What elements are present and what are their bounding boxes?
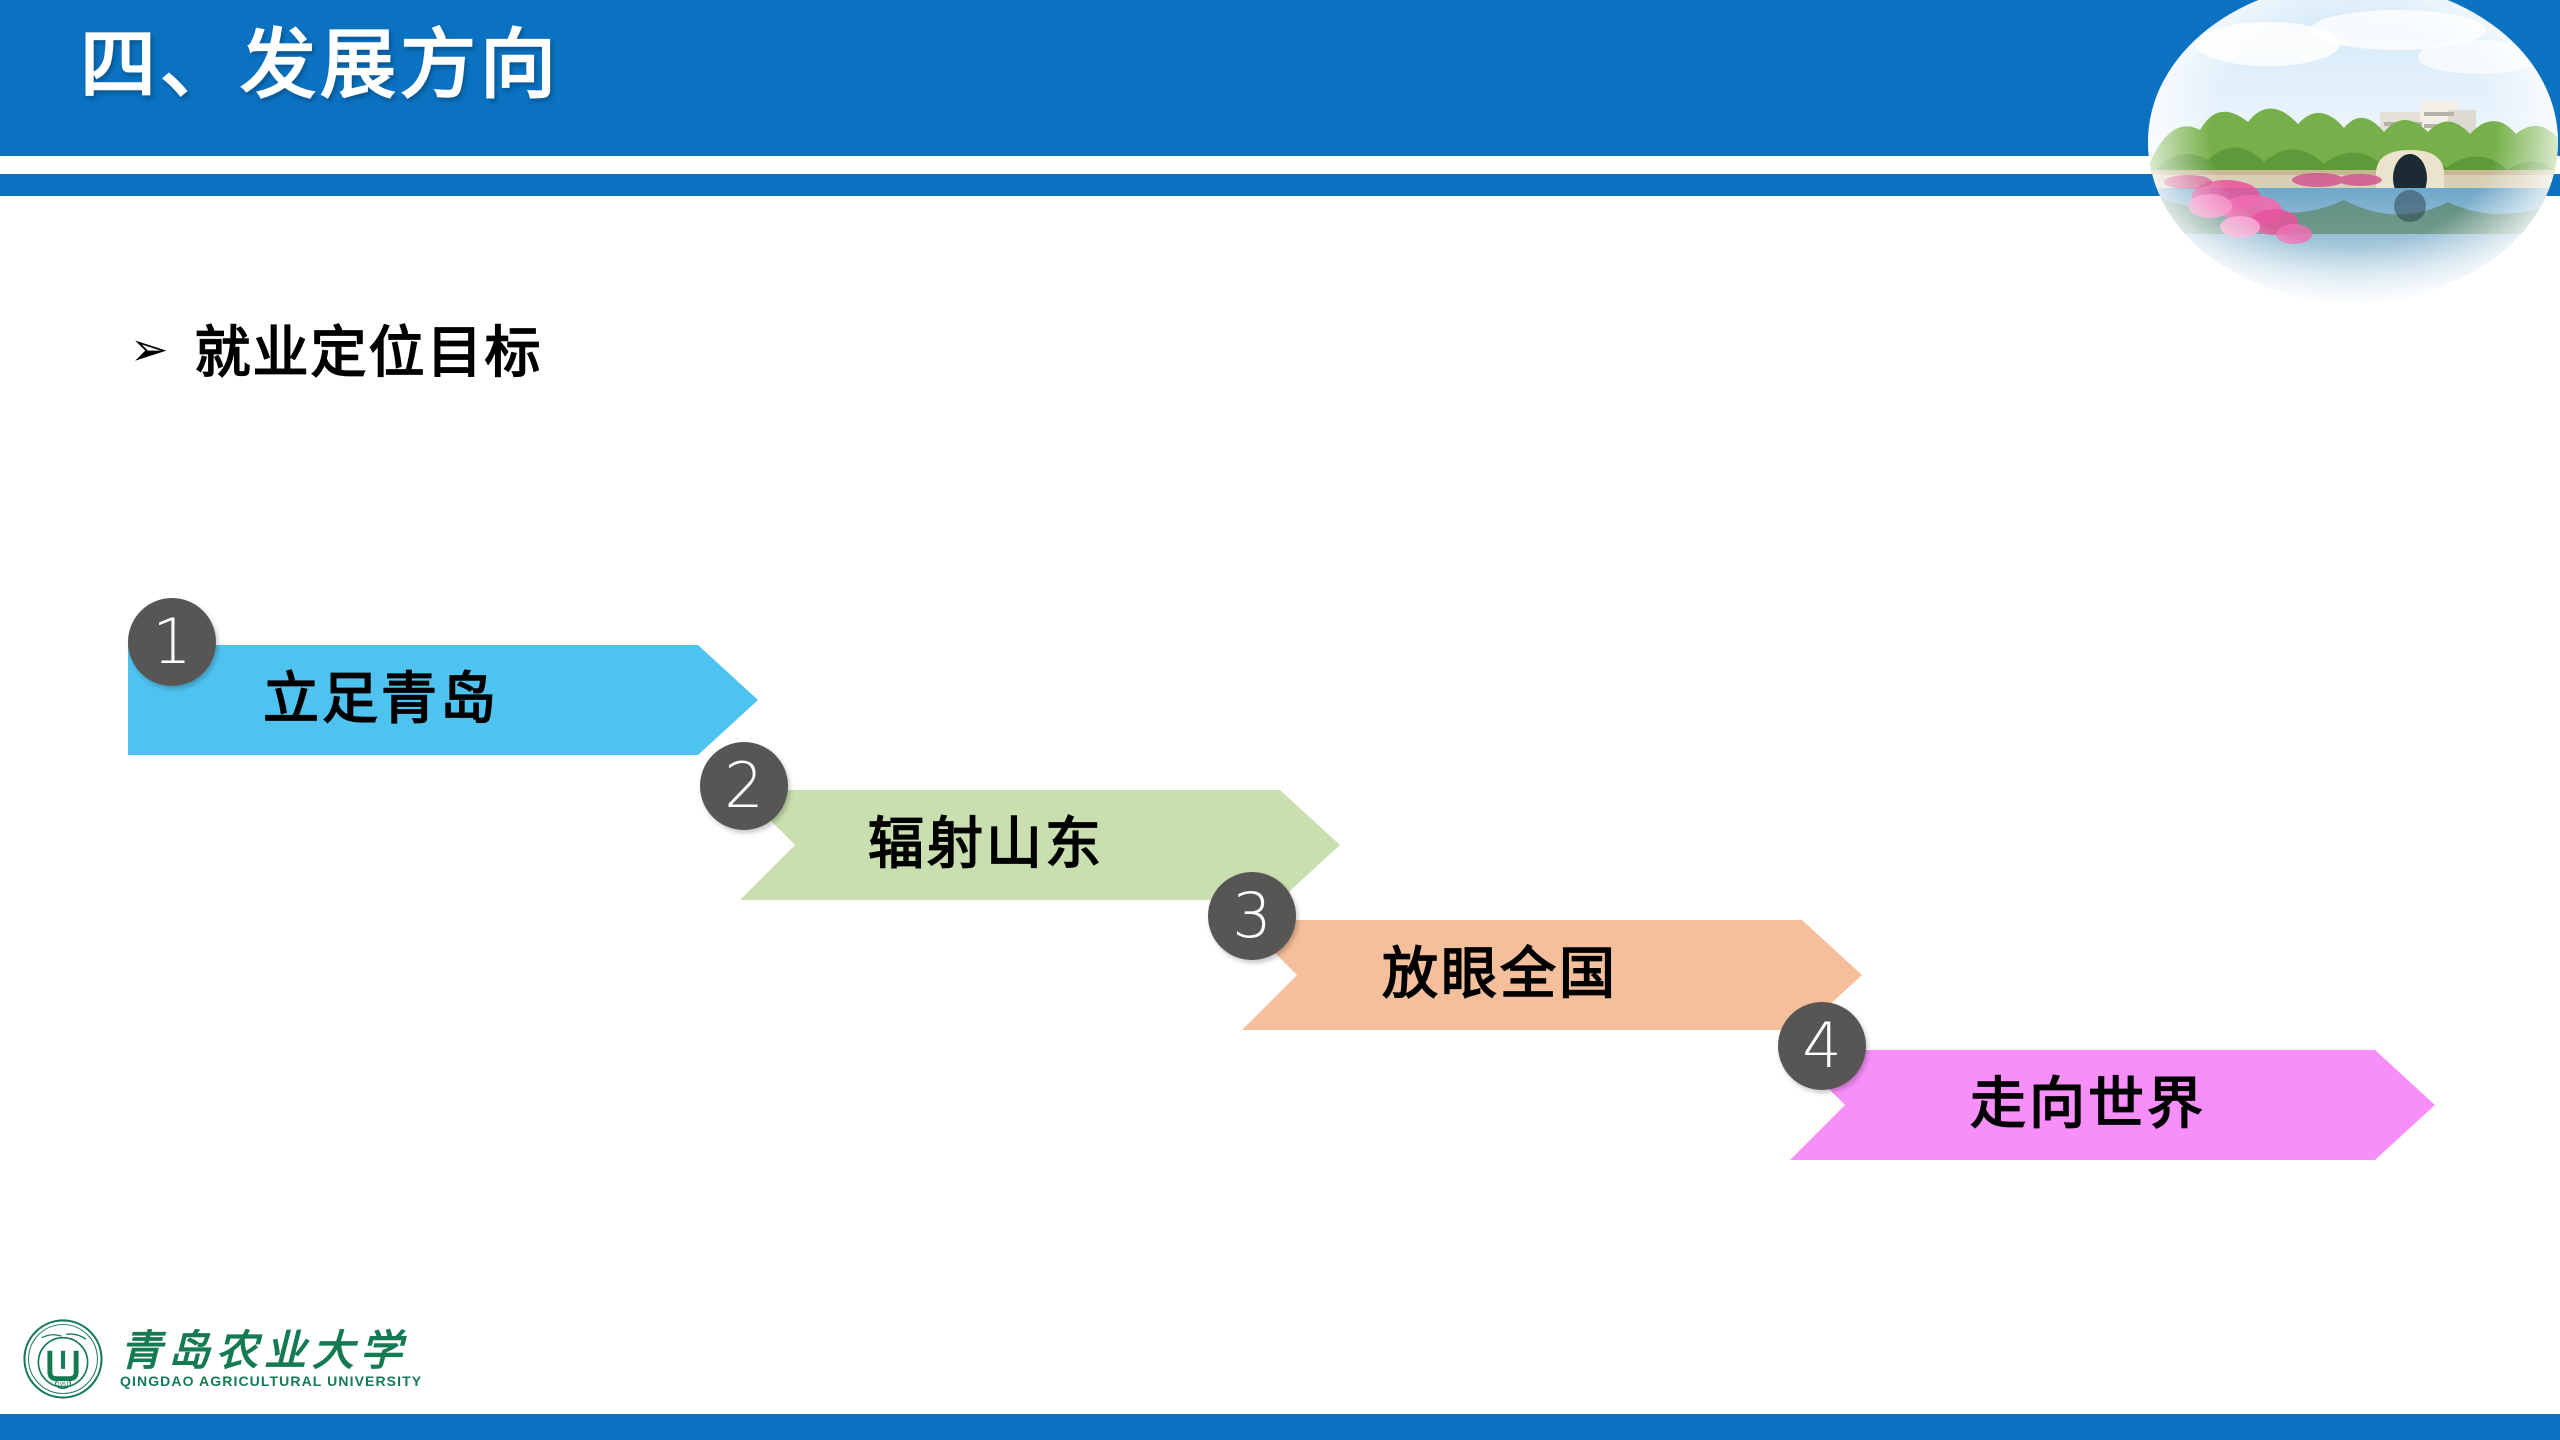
step-1-number-badge: 1 <box>128 598 216 686</box>
university-logo: 1951 青岛农业大学 QINGDAO AGRICULTURAL UNIVERS… <box>22 1318 422 1400</box>
step-4-label: 走向世界 <box>1970 1076 2206 1132</box>
university-name-cn: 青岛农业大学 <box>120 1330 422 1372</box>
slide-root: 四、发展方向 <box>0 0 2560 1440</box>
step-3-label: 放眼全国 <box>1382 946 1618 1002</box>
step-2-number-badge: 2 <box>700 742 788 830</box>
step-1-label: 立足青岛 <box>263 671 499 727</box>
footer-bar <box>0 1414 2560 1440</box>
svg-text:1951: 1951 <box>57 1382 70 1388</box>
step-4-number-badge: 4 <box>1778 1002 1866 1090</box>
university-seal-icon: 1951 <box>22 1318 104 1400</box>
university-name-en: QINGDAO AGRICULTURAL UNIVERSITY <box>120 1374 422 1388</box>
steps-diagram: 立足青岛 1 辐射山东 2 放眼全国 3 <box>0 0 2560 1440</box>
step-3-number-badge: 3 <box>1208 872 1296 960</box>
step-2-label: 辐射山东 <box>868 816 1104 872</box>
